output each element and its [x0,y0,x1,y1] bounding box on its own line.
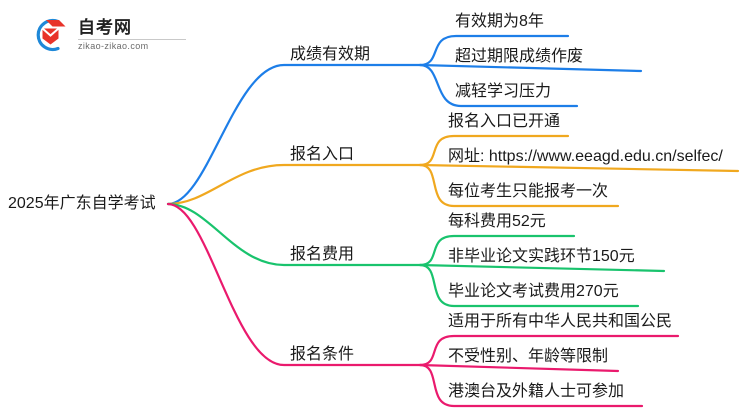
leaf-topic-3-1[interactable]: 每科费用52元 [448,214,546,230]
connector [168,65,420,204]
leaf-topic-1-2[interactable]: 超过期限成绩作废 [455,49,583,65]
leaf-topic-2-1[interactable]: 报名入口已开通 [448,114,560,130]
connector [420,265,664,271]
leaf-topic-1-3[interactable]: 减轻学习压力 [455,84,551,100]
branch-topic-2[interactable]: 报名入口 [290,147,354,163]
mindmap: 2025年广东自学考试成绩有效期有效期为8年超过期限成绩作废减轻学习压力报名入口… [0,0,750,410]
connector [420,365,618,371]
branch-topic-1[interactable]: 成绩有效期 [290,47,370,63]
connector [168,165,420,204]
root-topic[interactable]: 2025年广东自学考试 [8,196,156,212]
leaf-topic-4-2[interactable]: 不受性别、年龄等限制 [448,349,608,365]
leaf-topic-1-1[interactable]: 有效期为8年 [455,14,544,30]
connector [420,165,738,171]
leaf-topic-3-3[interactable]: 毕业论文考试费用270元 [448,284,619,300]
connector [420,65,641,71]
connector [168,204,420,365]
branch-topic-4[interactable]: 报名条件 [290,347,354,363]
branch-topic-3[interactable]: 报名费用 [290,247,354,263]
leaf-topic-2-2[interactable]: 网址: https://www.eeagd.edu.cn/selfec/ [448,149,723,165]
leaf-topic-3-2[interactable]: 非毕业论文实践环节150元 [448,249,635,265]
leaf-topic-2-3[interactable]: 每位考生只能报考一次 [448,184,608,200]
leaf-topic-4-3[interactable]: 港澳台及外籍人士可参加 [448,384,624,400]
leaf-topic-4-1[interactable]: 适用于所有中华人民共和国公民 [448,314,672,330]
